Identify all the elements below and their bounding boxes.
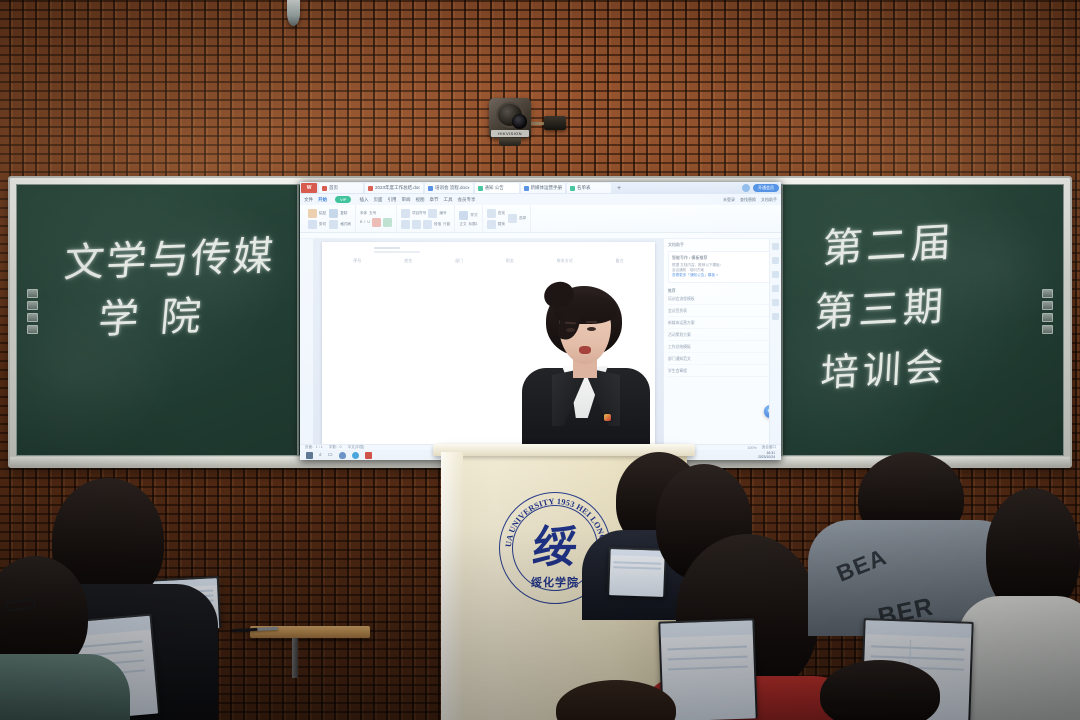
magnet-clip — [27, 301, 38, 310]
titlebar-right-controls: 开通会员 — [742, 184, 781, 192]
chalk-right-line2: 第三期 — [813, 274, 949, 339]
italic-button[interactable]: I — [364, 220, 365, 224]
chalk-right-line1: 第二届 — [821, 210, 957, 275]
rail-icon-templates[interactable] — [772, 243, 779, 250]
magnet-clip — [27, 313, 38, 322]
list-item[interactable]: 学生会章程 — [668, 369, 777, 377]
laptop-text-line — [614, 561, 662, 565]
doc-subheading-line — [374, 251, 420, 253]
blackboard-right-panel: 第二届 第三期 培训会 — [782, 184, 1064, 456]
laptop-app-toolbar — [660, 620, 752, 637]
wps-logo-icon: W — [301, 183, 317, 193]
magnet-clip — [1042, 313, 1053, 322]
ribbon-label: 格式刷 — [340, 222, 351, 227]
new-tab-button[interactable]: + — [613, 185, 625, 192]
list-item[interactable]: 活动策划方案 — [668, 333, 777, 341]
list-item[interactable]: 工作总结模板 — [668, 345, 777, 353]
camera-lens-ring — [496, 102, 524, 128]
font-color-icon[interactable] — [372, 218, 381, 227]
tab-icon — [322, 186, 327, 191]
presenter-eye-left — [566, 328, 575, 332]
ribbon-label: 剪切 — [319, 222, 326, 227]
ribbon-group-clipboard: 粘贴 剪切 复制 格式刷 — [304, 205, 356, 232]
defender-icon[interactable] — [339, 452, 346, 459]
table-header-cell: 联系方式 — [557, 258, 573, 264]
list-item[interactable]: 部门通知范文 — [668, 357, 777, 365]
ptz-camera: HIKVISION — [489, 98, 564, 148]
ribbon-label: 编号 — [439, 211, 446, 216]
rail-icon-cloud[interactable] — [772, 285, 779, 292]
classroom-scene: HIKVISION 文学与传媒 学院 第二届 第三期 培训会 — [0, 0, 1080, 720]
cut-icon[interactable] — [308, 220, 317, 229]
task-pane: 文档助手 ✕ 智能写作 / 模板推荐 根据 文档内容，推荐以下模板： 会议通知 … — [663, 239, 781, 444]
camera-brand-label: HIKVISION — [491, 130, 529, 137]
magnet-clip — [1042, 325, 1053, 334]
laptop-app-toolbar — [611, 549, 665, 557]
numbered-list-icon[interactable] — [428, 209, 437, 218]
find-replace-button[interactable]: 查找替换 — [740, 197, 756, 203]
line-spacing-button[interactable]: 行距 — [443, 222, 450, 227]
ribbon-label: 替换 — [498, 222, 505, 227]
ribbon-label: 样式 — [470, 213, 477, 218]
tab-label: 首页 — [329, 185, 338, 191]
table-header-cell: 姓名 — [404, 258, 412, 264]
rail-icon-images[interactable] — [772, 257, 779, 264]
chalk-left-line2: 学院 — [96, 283, 226, 345]
ribbon-tab-review[interactable]: 审阅 — [401, 197, 410, 203]
vip-badge[interactable]: VIP — [335, 196, 351, 203]
ribbon-label: 项目符号 — [412, 211, 426, 216]
table-header-cell: 序号 — [353, 258, 361, 264]
camera-junction-box — [544, 116, 566, 130]
align-right-icon[interactable] — [423, 220, 432, 229]
tab-document-1[interactable]: 2023年度工作总结.docx — [365, 183, 423, 193]
bullet-list-icon[interactable] — [401, 209, 410, 218]
doc-heading-line — [374, 247, 400, 249]
task-pane-list: 培训会流程模板 会议签到表 新媒体运营方案 活动策划方案 工作总结模板 部门通知… — [668, 297, 777, 377]
chalk-left-line1: 文学与传媒 — [62, 223, 278, 288]
laptop-text-line — [871, 646, 964, 651]
tab-document-4[interactable]: 新媒体运营手册 — [521, 183, 566, 193]
camera-lens-icon — [512, 114, 527, 129]
task-pane-section-label: 推荐 — [668, 289, 777, 294]
task-pane-card-link[interactable]: 查看更多「通知公告」模板 > — [672, 273, 773, 278]
tab-icon — [478, 186, 483, 191]
tab-label: 2023年度工作总结.docx — [375, 185, 420, 191]
font-size-select[interactable]: 五号 — [369, 211, 376, 216]
emblem-calligraphy-mark: 绥 — [526, 522, 583, 574]
highlight-icon[interactable] — [383, 218, 392, 227]
tab-document-3[interactable]: 通知 公告 — [475, 183, 519, 193]
ribbon-group-font: 宋体 五号 B I U — [356, 205, 397, 232]
style-gallery-icon[interactable] — [459, 211, 468, 220]
ribbon-group-paragraph: 项目符号 编号 段落 行距 — [397, 205, 455, 232]
document-heading-block — [374, 247, 420, 253]
laptop-text-line — [667, 656, 748, 661]
laptop-text-line — [667, 666, 748, 671]
ribbon-label: 查找 — [498, 211, 505, 216]
navigation-pane[interactable] — [300, 239, 314, 444]
app-titlebar: W 首页 2023年度工作总结.docx 培训会 流程.docx 通知 公告 新… — [300, 182, 781, 194]
tab-home[interactable]: 首页 — [319, 183, 363, 193]
tab-label: 新媒体运营手册 — [531, 185, 563, 191]
presenter — [506, 286, 666, 461]
avatar[interactable] — [742, 184, 750, 192]
ribbon-label: 粘贴 — [319, 211, 326, 216]
presenter-lapel-pin-icon — [604, 414, 611, 421]
list-item[interactable]: 会议签到表 — [668, 309, 777, 317]
ribbon-tab-reference[interactable]: 引用 — [387, 197, 396, 203]
font-family-select[interactable]: 宋体 — [360, 211, 367, 216]
ribbon-tab-member[interactable]: 会员专享 — [457, 197, 475, 203]
rail-icon-history[interactable] — [772, 299, 779, 306]
lectern-side-panel — [441, 452, 463, 720]
task-pane-rail — [769, 239, 781, 444]
ribbon-tab-home[interactable]: 开始 — [318, 197, 327, 203]
upgrade-membership-button[interactable]: 开通会员 — [753, 184, 779, 192]
laptop-screen — [609, 549, 665, 597]
presenter-eye-right — [587, 327, 596, 331]
ribbon-label: 复制 — [340, 211, 347, 216]
magnet-clip — [27, 325, 38, 334]
start-icon[interactable] — [306, 452, 313, 459]
copy-icon[interactable] — [329, 209, 338, 218]
student-shoulders-right-2 — [958, 596, 1080, 720]
tab-label: 通知 公告 — [485, 185, 504, 191]
camera-mount — [499, 138, 521, 146]
tab-icon — [428, 186, 433, 191]
task-view-icon[interactable]: ▭ — [328, 452, 333, 458]
table-header-cell: 备注 — [616, 258, 624, 264]
replace-icon[interactable] — [487, 220, 496, 229]
rail-icon-settings[interactable] — [772, 313, 779, 320]
tab-document-2[interactable]: 培训会 流程.docx — [425, 183, 473, 193]
laptop-center-back[interactable] — [607, 547, 667, 597]
align-center-icon[interactable] — [412, 220, 421, 229]
search-icon[interactable]: ⌕ — [319, 452, 322, 458]
doc-assistant-button[interactable]: 文档助手 — [761, 197, 777, 203]
select-icon[interactable] — [508, 214, 517, 223]
status-zoom-level[interactable]: 100% — [747, 446, 756, 450]
taskbar-date: 2023/10/24 — [758, 455, 775, 459]
blackboard-left-panel: 文学与传媒 学院 — [16, 184, 298, 456]
style-normal[interactable]: 正文 — [459, 222, 466, 227]
tab-label: 培训会 流程.docx — [435, 185, 470, 191]
camera-body: HIKVISION — [489, 98, 531, 138]
laptop-text-line — [613, 567, 661, 571]
magnet-clip — [27, 289, 38, 298]
ribbon-group-styles: 样式 正文标题1 — [455, 205, 482, 232]
desk-leg — [292, 638, 298, 678]
presenter-mouth — [579, 346, 591, 354]
magnet-clip — [1042, 289, 1053, 298]
ribbon-toolbar: 粘贴 剪切 复制 格式刷 宋体 五号 B I U — [300, 205, 781, 233]
ribbon-tab-section[interactable]: 章节 — [429, 197, 438, 203]
ribbon-tab-tools[interactable]: 工具 — [443, 197, 452, 203]
ribbon-group-editing: 查找 替换 选择 — [483, 205, 531, 232]
magnet-clips-left — [27, 289, 38, 334]
tab-icon — [524, 186, 529, 191]
wps-icon[interactable] — [365, 452, 372, 459]
align-left-icon[interactable] — [401, 220, 410, 229]
ribbon-label: 选择 — [519, 216, 526, 221]
table-header-cell: 部门 — [455, 258, 463, 264]
list-item[interactable]: 培训会流程模板 — [668, 297, 777, 305]
edge-icon[interactable] — [352, 452, 359, 459]
ribbon-label: 段落 — [434, 222, 441, 227]
tab-icon — [368, 186, 373, 191]
chalk-right-line3: 培训会 — [819, 336, 948, 398]
tab-document-5[interactable]: 名单表 — [567, 183, 611, 193]
ribbon-tab-page[interactable]: 页面 — [373, 197, 382, 203]
task-pane-card-title: 智能写作 / 模板推荐 — [672, 255, 773, 261]
ribbon-tab-view[interactable]: 视图 — [415, 197, 424, 203]
tab-label: 名单表 — [577, 185, 591, 191]
find-icon[interactable] — [487, 209, 496, 218]
style-heading1[interactable]: 标题1 — [469, 222, 478, 227]
ceiling-sensor-icon — [287, 0, 300, 26]
format-painter-icon[interactable] — [329, 220, 338, 229]
login-status-label[interactable]: 未登录 — [723, 197, 735, 203]
list-item[interactable]: 新媒体运营方案 — [668, 321, 777, 329]
ribbon-right-group: 未登录 查找替换 文档助手 — [723, 197, 781, 203]
task-pane-title: 文档助手 — [668, 242, 684, 248]
tab-icon — [570, 186, 575, 191]
magnet-clips-right — [1042, 289, 1053, 334]
paste-icon[interactable] — [308, 209, 317, 218]
laptop-text-line — [667, 646, 748, 651]
taskbar-clock[interactable]: 16:31 2023/10/24 — [758, 451, 775, 459]
ribbon-tab-file[interactable]: 文件 — [304, 197, 313, 203]
laptop-app-toolbar — [865, 620, 971, 637]
document-table-header-row: 序号 姓名 部门 职务 联系方式 备注 — [332, 258, 645, 264]
ribbon-tab-insert[interactable]: 插入 — [359, 197, 368, 203]
student-shoulders-left-2 — [0, 654, 130, 720]
table-header-cell: 职务 — [506, 258, 514, 264]
ribbon-tab-bar: 文件 开始 VIP 插入 页面 引用 审阅 视图 章节 工具 会员专享 未登录 … — [300, 194, 781, 205]
magnet-clip — [1042, 301, 1053, 310]
underline-button[interactable]: U — [367, 220, 370, 224]
task-pane-header: 文档助手 ✕ — [668, 242, 777, 251]
bold-button[interactable]: B — [360, 220, 362, 224]
rail-icon-shapes[interactable] — [772, 271, 779, 278]
task-pane-card[interactable]: 智能写作 / 模板推荐 根据 文档内容，推荐以下模板： 会议通知 · 培训方案 … — [668, 251, 777, 283]
